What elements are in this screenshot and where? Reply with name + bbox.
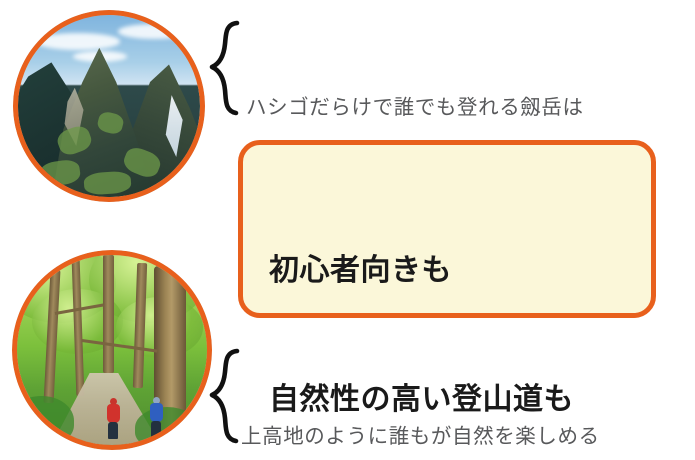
photo-forest-trail-image bbox=[17, 255, 207, 445]
caption-bottom: 上高地のように誰もが自然を楽しめる 整備された登山道は安心 bbox=[241, 357, 600, 460]
highlight-message-box: 初心者向きも 自然性の高い登山道も どちらも必要！ bbox=[238, 140, 656, 318]
caption-top-line-1: ハシゴだらけで誰でも登れる劔岳は bbox=[246, 92, 584, 124]
hiker-legs bbox=[151, 421, 161, 438]
undergrowth bbox=[135, 407, 200, 445]
hiker-legs bbox=[108, 422, 118, 439]
photo-mountain-peak-image bbox=[18, 15, 200, 197]
curly-brace-icon bbox=[206, 20, 248, 116]
highlight-line-1: 初心者向きも bbox=[269, 249, 574, 292]
hiker-backpack bbox=[150, 403, 163, 422]
infographic-canvas: ハシゴだらけで誰でも登れる劔岳は 本当に登山者が求めるもの？ 初心者向きも 自然… bbox=[0, 0, 695, 460]
cloud-shape bbox=[36, 33, 120, 49]
mountain-scene bbox=[18, 15, 200, 197]
undergrowth bbox=[17, 396, 74, 445]
tree-trunk bbox=[103, 255, 114, 373]
hiker-backpack bbox=[107, 404, 120, 423]
forest-scene bbox=[17, 255, 207, 445]
photo-mountain-peak bbox=[13, 10, 205, 202]
photo-forest-trail bbox=[12, 250, 212, 450]
caption-bottom-line-1: 上高地のように誰もが自然を楽しめる bbox=[241, 421, 600, 453]
cloud-shape bbox=[118, 24, 191, 39]
